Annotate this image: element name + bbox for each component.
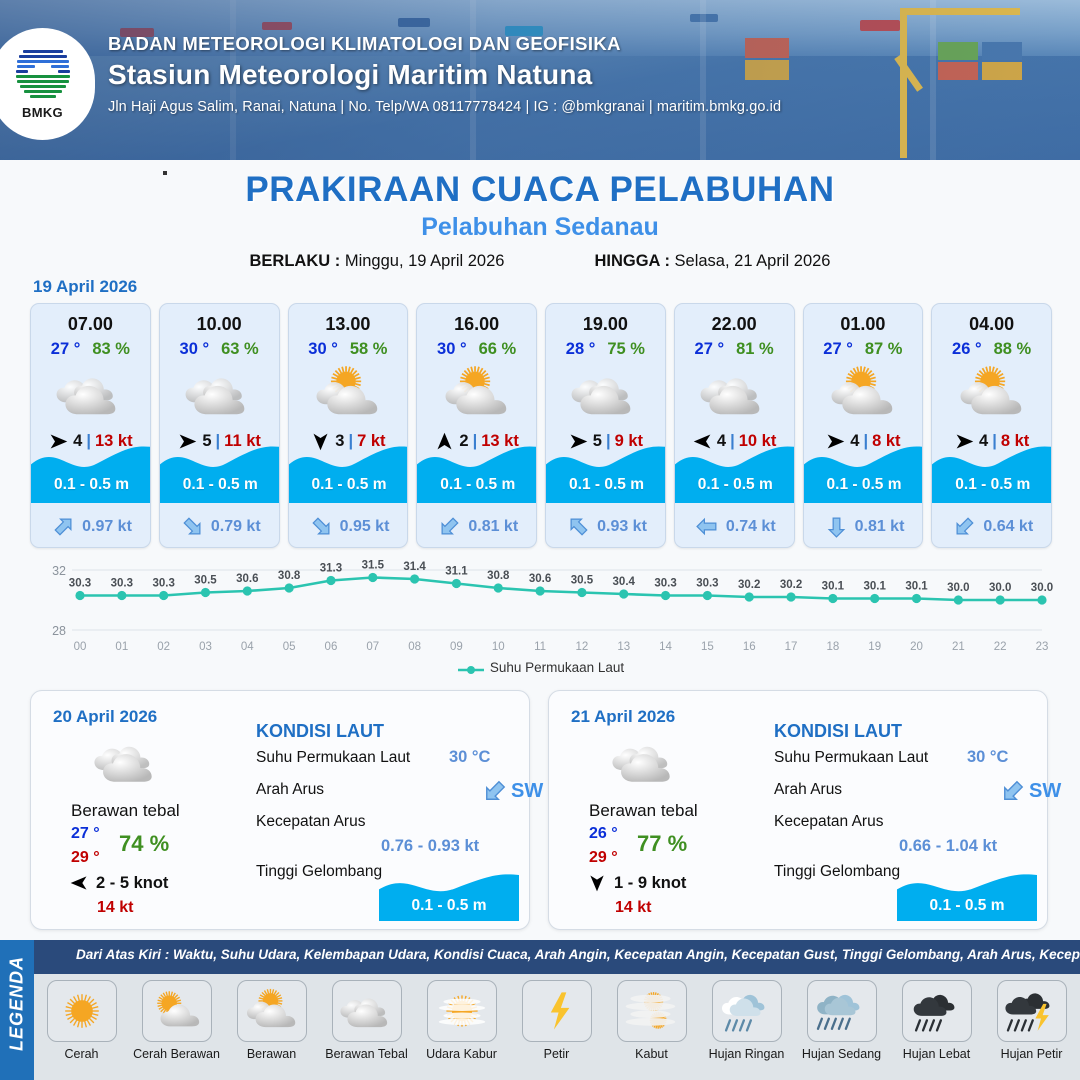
svg-text:30.3: 30.3 <box>111 578 133 590</box>
svg-text:30.0: 30.0 <box>1031 582 1053 594</box>
decorative-dot <box>163 171 167 175</box>
daily-wind-row: 1 - 9 knot <box>587 873 686 893</box>
daily-temp-max: 29 ° <box>589 849 618 867</box>
card-current-speed: 0.79 kt <box>211 518 261 536</box>
card-temperature: 26 ° <box>952 340 982 359</box>
current-direction-label: Arah Arus <box>774 781 842 799</box>
organization-name: BADAN METEOROLOGI KLIMATOLOGI DAN GEOFIS… <box>108 33 781 55</box>
legend-item: Cerah <box>34 980 129 1061</box>
card-current-row: 0.81 kt <box>417 514 537 539</box>
svg-text:10: 10 <box>492 641 505 653</box>
card-time: 07.00 <box>31 314 150 335</box>
bmkg-logo-text: BMKG <box>22 105 63 120</box>
forecast-card[interactable]: 19.0028 °75 %5|9 kt0.1 - 0.5 m0.93 kt <box>545 303 666 548</box>
card-temp-humidity-row: 27 °83 % <box>31 340 150 359</box>
card-wave-graphic: 0.1 - 0.5 m <box>31 445 151 503</box>
card-current-row: 0.74 kt <box>675 514 795 539</box>
thunderstorm-icon <box>997 980 1067 1042</box>
sun-cloud-icon <box>142 980 212 1042</box>
sea-condition-title: KONDISI LAUT <box>256 721 384 742</box>
card-humidity: 58 % <box>350 340 388 359</box>
forecast-card[interactable]: 13.0030 °58 %3|7 kt0.1 - 0.5 m0.95 kt <box>288 303 409 548</box>
card-humidity: 75 % <box>607 340 645 359</box>
sea-condition-title: KONDISI LAUT <box>774 721 902 742</box>
bmkg-logo: BMKG <box>0 28 95 140</box>
arrow-sw-icon <box>481 777 509 805</box>
legend-item-label: Hujan Sedang <box>802 1047 881 1061</box>
svg-text:30.8: 30.8 <box>278 570 301 582</box>
legend-item: Hujan Ringan <box>699 980 794 1061</box>
partly-cloudy-icon <box>804 363 923 425</box>
haze-icon <box>427 980 497 1042</box>
card-wave-height: 0.1 - 0.5 m <box>31 476 151 494</box>
daily-wave-height: 0.1 - 0.5 m <box>897 897 1037 915</box>
daily-wave-height: 0.1 - 0.5 m <box>379 897 519 915</box>
page-subtitle: Pelabuhan Sedanau <box>0 213 1080 242</box>
card-temperature: 27 ° <box>51 340 81 359</box>
daily-temp-max: 29 ° <box>71 849 100 867</box>
station-name: Stasiun Meteorologi Maritim Natuna <box>108 59 781 91</box>
card-current-speed: 0.74 kt <box>726 518 776 536</box>
card-current-row: 0.64 kt <box>932 514 1052 539</box>
current-direction-value: SW <box>1029 780 1061 803</box>
sst-value: 30 °C <box>967 748 1008 767</box>
legend-item: Petir <box>509 980 604 1061</box>
contact-info: Jln Haji Agus Salim, Ranai, Natuna | No.… <box>108 99 781 115</box>
card-wave-graphic: 0.1 - 0.5 m <box>804 445 924 503</box>
card-wave-height: 0.1 - 0.5 m <box>160 476 280 494</box>
card-current-row: 0.97 kt <box>31 514 151 539</box>
partly-cloudy-icon <box>417 363 536 425</box>
legend-item-label: Cerah <box>64 1047 98 1061</box>
legend-item: Cerah Berawan <box>129 980 224 1061</box>
svg-text:01: 01 <box>115 641 128 653</box>
forecast-cards-row: 07.0027 °83 %4|13 kt0.1 - 0.5 m0.97 kt10… <box>30 303 1052 548</box>
arrow-left-icon <box>695 514 720 539</box>
current-speed-label: Kecepatan Arus <box>774 813 883 831</box>
card-temp-humidity-row: 27 °87 % <box>804 340 923 359</box>
card-temperature: 30 ° <box>308 340 338 359</box>
card-temperature: 27 ° <box>823 340 853 359</box>
daily-humidity: 77 % <box>637 831 687 857</box>
fog-icon <box>617 980 687 1042</box>
chart-legend: Suhu Permukaan Laut <box>28 660 1054 675</box>
card-wave-height: 0.1 - 0.5 m <box>675 476 795 494</box>
svg-text:02: 02 <box>157 641 170 653</box>
legend-item-label: Udara Kabur <box>426 1047 497 1061</box>
legend-item-label: Berawan <box>247 1047 296 1061</box>
title-block: PRAKIRAAN CUACA PELABUHAN Pelabuhan Seda… <box>0 170 1080 271</box>
card-wave-height: 0.1 - 0.5 m <box>932 476 1052 494</box>
card-humidity: 81 % <box>736 340 774 359</box>
legend-item-label: Berawan Tebal <box>325 1047 407 1061</box>
svg-text:23: 23 <box>1036 641 1049 653</box>
svg-text:09: 09 <box>450 641 463 653</box>
legend-item: Hujan Sedang <box>794 980 889 1061</box>
svg-text:31.3: 31.3 <box>320 563 342 575</box>
card-temp-humidity-row: 28 °75 % <box>546 340 665 359</box>
forecast-card[interactable]: 07.0027 °83 %4|13 kt0.1 - 0.5 m0.97 kt <box>30 303 151 548</box>
moderate-rain-icon <box>807 980 877 1042</box>
svg-text:14: 14 <box>659 641 672 653</box>
svg-text:05: 05 <box>283 641 296 653</box>
card-time: 16.00 <box>417 314 536 335</box>
svg-text:07: 07 <box>366 641 379 653</box>
card-temperature: 27 ° <box>695 340 725 359</box>
daily-wind-row: 2 - 5 knot <box>69 873 168 893</box>
card-humidity: 63 % <box>221 340 259 359</box>
card-current-speed: 0.97 kt <box>82 518 132 536</box>
legend-item-label: Petir <box>544 1047 570 1061</box>
card-wave-graphic: 0.1 - 0.5 m <box>160 445 280 503</box>
legenda-tab: LEGENDA <box>0 940 34 1080</box>
sun-icon <box>47 980 117 1042</box>
card-humidity: 87 % <box>865 340 903 359</box>
cloudy-icon <box>546 363 665 425</box>
svg-text:22: 22 <box>994 641 1007 653</box>
svg-text:30.0: 30.0 <box>947 582 969 594</box>
forecast-card[interactable]: 22.0027 °81 %4|10 kt0.1 - 0.5 m0.74 kt <box>674 303 795 548</box>
forecast-card[interactable]: 01.0027 °87 %4|8 kt0.1 - 0.5 m0.81 kt <box>803 303 924 548</box>
daily-gust: 14 kt <box>97 899 133 917</box>
forecast-card[interactable]: 16.0030 °66 %2|13 kt0.1 - 0.5 m0.81 kt <box>416 303 537 548</box>
svg-text:03: 03 <box>199 641 212 653</box>
chart-legend-swatch <box>458 663 484 673</box>
berlaku-value: Minggu, 19 April 2026 <box>345 252 505 270</box>
card-humidity: 88 % <box>994 340 1032 359</box>
card-current-row: 0.81 kt <box>804 514 924 539</box>
card-wave-height: 0.1 - 0.5 m <box>804 476 924 494</box>
card-wave-height: 0.1 - 0.5 m <box>289 476 409 494</box>
svg-text:12: 12 <box>576 641 589 653</box>
logo-land-bars <box>15 75 71 102</box>
arrow-sw-icon <box>437 514 462 539</box>
hingga-value: Selasa, 21 April 2026 <box>675 252 831 270</box>
chart-legend-label: Suhu Permukaan Laut <box>490 660 624 675</box>
card-humidity: 83 % <box>92 340 130 359</box>
wave-height-label: Tinggi Gelombang <box>774 863 900 881</box>
svg-text:31.1: 31.1 <box>445 566 468 578</box>
page-header: BMKG BADAN METEOROLOGI KLIMATOLOGI DAN G… <box>0 0 1080 160</box>
card-wave-graphic: 0.1 - 0.5 m <box>932 445 1052 503</box>
legend-item-label: Hujan Ringan <box>709 1047 785 1061</box>
card-temp-humidity-row: 30 °63 % <box>160 340 279 359</box>
legend-item: Berawan Tebal <box>319 980 414 1061</box>
daily-wave-graphic: 0.1 - 0.5 m <box>379 873 519 921</box>
daily-wind-range: 1 - 9 knot <box>614 874 686 893</box>
svg-text:30.6: 30.6 <box>529 573 551 585</box>
card-time: 04.00 <box>932 314 1051 335</box>
svg-text:18: 18 <box>826 641 839 653</box>
current-direction-group: SW <box>481 777 543 805</box>
svg-text:20: 20 <box>910 641 923 653</box>
sst-chart-svg: 322830.30030.30130.30230.50330.60430.805… <box>28 560 1054 660</box>
svg-text:15: 15 <box>701 641 714 653</box>
svg-text:28: 28 <box>52 624 66 638</box>
arrow-se-icon <box>180 514 205 539</box>
daily-condition: Berawan tebal <box>589 801 698 821</box>
cloudy-icon <box>31 363 150 425</box>
daily-wave-graphic: 0.1 - 0.5 m <box>897 873 1037 921</box>
svg-text:30.3: 30.3 <box>152 578 174 590</box>
legend-items-row: CerahCerah BerawanBerawanBerawan TebalUd… <box>34 974 1080 1080</box>
current-speed-value: 0.76 - 0.93 kt <box>381 837 479 856</box>
svg-text:08: 08 <box>408 641 421 653</box>
daily-panel-20: 20 April 2026Berawan tebal27 °29 °74 %2 … <box>30 690 530 930</box>
card-wave-graphic: 0.1 - 0.5 m <box>289 445 409 503</box>
cloudy-icon <box>89 735 165 794</box>
svg-text:30.8: 30.8 <box>487 570 510 582</box>
legend-item: Kabut <box>604 980 699 1061</box>
hingga-label: HINGGA : <box>594 252 669 270</box>
berlaku-group: BERLAKU : Minggu, 19 April 2026 <box>250 252 505 271</box>
current-direction-group: SW <box>999 777 1061 805</box>
card-current-row: 0.95 kt <box>289 514 409 539</box>
light-rain-icon <box>712 980 782 1042</box>
svg-text:32: 32 <box>52 564 66 578</box>
validity-row: BERLAKU : Minggu, 19 April 2026 HINGGA :… <box>0 252 1080 271</box>
arrow-ne-icon <box>51 514 76 539</box>
legenda-tab-label: LEGENDA <box>7 934 28 1074</box>
logo-sky-bars <box>15 50 71 74</box>
card-temperature: 30 ° <box>437 340 467 359</box>
card-time: 22.00 <box>675 314 794 335</box>
card-wave-height: 0.1 - 0.5 m <box>417 476 537 494</box>
legend-item: Berawan <box>224 980 319 1061</box>
daily-date: 21 April 2026 <box>571 707 675 727</box>
legend-item: Hujan Petir <box>984 980 1079 1061</box>
svg-text:30.2: 30.2 <box>738 579 760 591</box>
card-temperature: 28 ° <box>566 340 596 359</box>
card-current-speed: 0.81 kt <box>468 518 518 536</box>
card-temp-humidity-row: 27 °81 % <box>675 340 794 359</box>
header-text-block: BADAN METEOROLOGI KLIMATOLOGI DAN GEOFIS… <box>108 33 781 115</box>
sst-label: Suhu Permukaan Laut <box>774 749 928 767</box>
svg-text:30.3: 30.3 <box>654 578 676 590</box>
cloudy-icon <box>160 363 279 425</box>
arrow-sw-icon <box>999 777 1027 805</box>
hingga-group: HINGGA : Selasa, 21 April 2026 <box>594 252 830 271</box>
arrow-down-icon <box>824 514 849 539</box>
card-current-speed: 0.95 kt <box>340 518 390 536</box>
arrow-s-icon <box>587 873 607 893</box>
bmkg-logo-mark <box>15 48 71 104</box>
current-speed-value: 0.66 - 1.04 kt <box>899 837 997 856</box>
svg-text:30.1: 30.1 <box>864 581 887 593</box>
card-current-speed: 0.93 kt <box>597 518 647 536</box>
partly-cloudy-icon <box>289 363 408 425</box>
svg-text:30.5: 30.5 <box>194 575 217 587</box>
daily-date: 20 April 2026 <box>53 707 157 727</box>
sst-value: 30 °C <box>449 748 490 767</box>
card-temp-humidity-row: 26 °88 % <box>932 340 1051 359</box>
daily-condition: Berawan tebal <box>71 801 180 821</box>
svg-text:30.0: 30.0 <box>989 582 1011 594</box>
card-time: 19.00 <box>546 314 665 335</box>
card-temp-humidity-row: 30 °66 % <box>417 340 536 359</box>
clouds-icon <box>332 980 402 1042</box>
wave-height-label: Tinggi Gelombang <box>256 863 382 881</box>
legend-note-bar: Dari Atas Kiri : Waktu, Suhu Udara, Kele… <box>34 940 1080 974</box>
lightning-icon <box>522 980 592 1042</box>
forecast-card[interactable]: 10.0030 °63 %5|11 kt0.1 - 0.5 m0.79 kt <box>159 303 280 548</box>
card-temp-humidity-row: 30 °58 % <box>289 340 408 359</box>
daily-temp-min: 27 ° <box>71 825 100 843</box>
legend-item-label: Hujan Lebat <box>903 1047 970 1061</box>
arrow-sw-icon <box>952 514 977 539</box>
svg-text:00: 00 <box>74 641 87 653</box>
card-wave-graphic: 0.1 - 0.5 m <box>546 445 666 503</box>
card-current-row: 0.79 kt <box>160 514 280 539</box>
svg-text:13: 13 <box>617 641 630 653</box>
svg-text:30.5: 30.5 <box>571 575 594 587</box>
legend-item-label: Hujan Petir <box>1001 1047 1063 1061</box>
arrow-se-icon <box>309 514 334 539</box>
legend-item: Udara Kabur <box>414 980 509 1061</box>
legend-item-label: Kabut <box>635 1047 668 1061</box>
card-wave-graphic: 0.1 - 0.5 m <box>675 445 795 503</box>
svg-text:04: 04 <box>241 641 254 653</box>
svg-text:16: 16 <box>743 641 756 653</box>
arrow-nw-icon <box>566 514 591 539</box>
svg-text:17: 17 <box>785 641 798 653</box>
page-title: PRAKIRAAN CUACA PELABUHAN <box>0 170 1080 210</box>
legend-note-text: Dari Atas Kiri : Waktu, Suhu Udara, Kele… <box>76 947 1080 962</box>
card-current-row: 0.93 kt <box>546 514 666 539</box>
sst-label: Suhu Permukaan Laut <box>256 749 410 767</box>
berlaku-label: BERLAKU : <box>250 252 341 270</box>
sun-clouds-icon <box>237 980 307 1042</box>
daily-wind-range: 2 - 5 knot <box>96 874 168 893</box>
card-wave-graphic: 0.1 - 0.5 m <box>417 445 537 503</box>
svg-text:30.1: 30.1 <box>822 581 845 593</box>
svg-text:30.3: 30.3 <box>696 578 718 590</box>
card-time: 13.00 <box>289 314 408 335</box>
arrow-w-icon <box>69 873 89 893</box>
svg-text:30.3: 30.3 <box>69 578 91 590</box>
svg-text:21: 21 <box>952 641 965 653</box>
current-direction-label: Arah Arus <box>256 781 324 799</box>
legend-item: Hujan Lebat <box>889 980 984 1061</box>
heavy-rain-icon <box>902 980 972 1042</box>
sst-chart: 322830.30030.30130.30230.50330.60430.805… <box>28 560 1054 680</box>
current-speed-label: Kecepatan Arus <box>256 813 365 831</box>
daily-gust: 14 kt <box>615 899 651 917</box>
card-time: 01.00 <box>804 314 923 335</box>
card-time: 10.00 <box>160 314 279 335</box>
cloudy-icon <box>675 363 794 425</box>
legend-item-label: Cerah Berawan <box>133 1047 220 1061</box>
cloudy-icon <box>607 735 683 794</box>
svg-text:30.2: 30.2 <box>780 579 802 591</box>
daily-panel-21: 21 April 2026Berawan tebal26 °29 °77 %1 … <box>548 690 1048 930</box>
svg-text:30.6: 30.6 <box>236 573 258 585</box>
svg-text:31.4: 31.4 <box>403 561 426 573</box>
partly-cloudy-icon <box>932 363 1051 425</box>
svg-text:30.1: 30.1 <box>905 581 928 593</box>
card-current-speed: 0.64 kt <box>983 518 1033 536</box>
current-direction-value: SW <box>511 780 543 803</box>
svg-text:06: 06 <box>325 641 338 653</box>
card-temperature: 30 ° <box>180 340 210 359</box>
forecast-card[interactable]: 04.0026 °88 %4|8 kt0.1 - 0.5 m0.64 kt <box>931 303 1052 548</box>
card-wave-height: 0.1 - 0.5 m <box>546 476 666 494</box>
svg-text:19: 19 <box>868 641 881 653</box>
svg-text:11: 11 <box>534 641 546 653</box>
card-current-speed: 0.81 kt <box>855 518 905 536</box>
svg-text:31.5: 31.5 <box>362 560 385 572</box>
daily-humidity: 74 % <box>119 831 169 857</box>
forecast-date-label: 19 April 2026 <box>33 277 137 297</box>
daily-temp-min: 26 ° <box>589 825 618 843</box>
legend-footer: LEGENDA Dari Atas Kiri : Waktu, Suhu Uda… <box>0 940 1080 1080</box>
card-humidity: 66 % <box>479 340 517 359</box>
svg-text:30.4: 30.4 <box>613 576 636 588</box>
